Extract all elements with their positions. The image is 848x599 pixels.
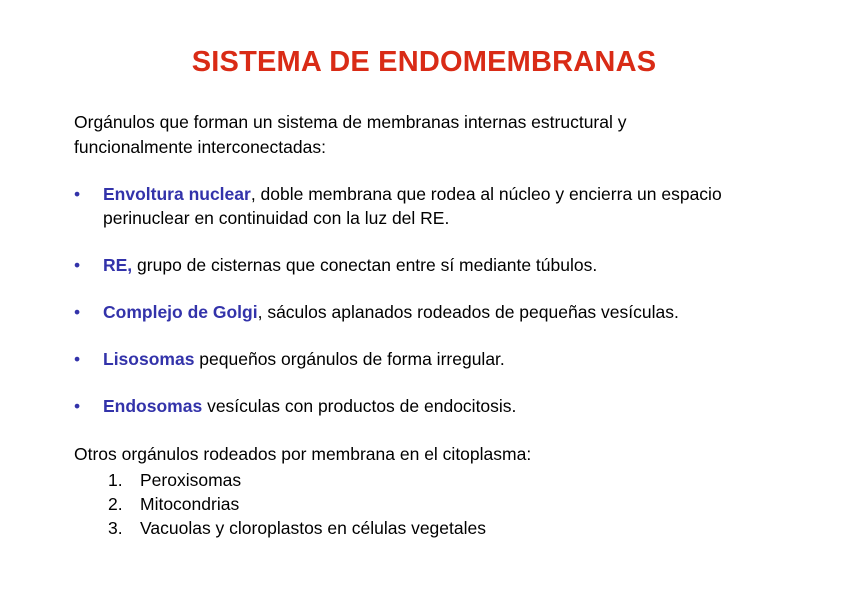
list-item-label: Peroxisomas xyxy=(140,470,241,490)
bullet-term: Envoltura nuclear xyxy=(103,184,251,204)
bullet-description: , sáculos aplanados rodeados de pequeñas… xyxy=(258,302,679,322)
closing-paragraph: Otros orgánulos rodeados por membrana en… xyxy=(74,442,804,466)
endomembrane-bullet-list: • Envoltura nuclear, doble membrana que … xyxy=(74,182,804,418)
bullet-dot-icon: • xyxy=(74,347,80,371)
list-item: • Lisosomas pequeños orgánulos de forma … xyxy=(74,347,804,371)
other-organelles-list: 1. Peroxisomas 2. Mitocondrias 3. Vacuol… xyxy=(74,468,804,540)
list-item: 3. Vacuolas y cloroplastos en células ve… xyxy=(74,516,804,540)
bullet-dot-icon: • xyxy=(74,300,80,324)
slide-canvas: SISTEMA DE ENDOMEMBRANAS Orgánulos que f… xyxy=(0,0,848,599)
list-item: • Endosomas vesículas con productos de e… xyxy=(74,394,804,418)
bullet-term: Lisosomas xyxy=(103,349,194,369)
bullet-description: vesículas con productos de endocitosis. xyxy=(202,396,516,416)
list-item-label: Mitocondrias xyxy=(140,494,239,514)
list-item-label: Vacuolas y cloroplastos en células veget… xyxy=(140,518,486,538)
slide-body: Orgánulos que forman un sistema de membr… xyxy=(74,110,804,540)
list-number: 1. xyxy=(108,468,123,492)
intro-paragraph: Orgánulos que forman un sistema de membr… xyxy=(74,110,734,160)
list-number: 3. xyxy=(108,516,123,540)
page-title: SISTEMA DE ENDOMEMBRANAS xyxy=(0,46,848,79)
bullet-dot-icon: • xyxy=(74,253,80,277)
bullet-dot-icon: • xyxy=(74,394,80,418)
bullet-dot-icon: • xyxy=(74,182,80,206)
bullet-description: grupo de cisternas que conectan entre sí… xyxy=(132,255,597,275)
list-item: • Complejo de Golgi, sáculos aplanados r… xyxy=(74,300,804,324)
list-item: • Envoltura nuclear, doble membrana que … xyxy=(74,182,804,230)
bullet-description: pequeños orgánulos de forma irregular. xyxy=(194,349,504,369)
list-item: 1. Peroxisomas xyxy=(74,468,804,492)
list-number: 2. xyxy=(108,492,123,516)
bullet-term: RE, xyxy=(103,255,132,275)
list-item: • RE, grupo de cisternas que conectan en… xyxy=(74,253,804,277)
list-item: 2. Mitocondrias xyxy=(74,492,804,516)
bullet-term: Complejo de Golgi xyxy=(103,302,258,322)
bullet-term: Endosomas xyxy=(103,396,202,416)
